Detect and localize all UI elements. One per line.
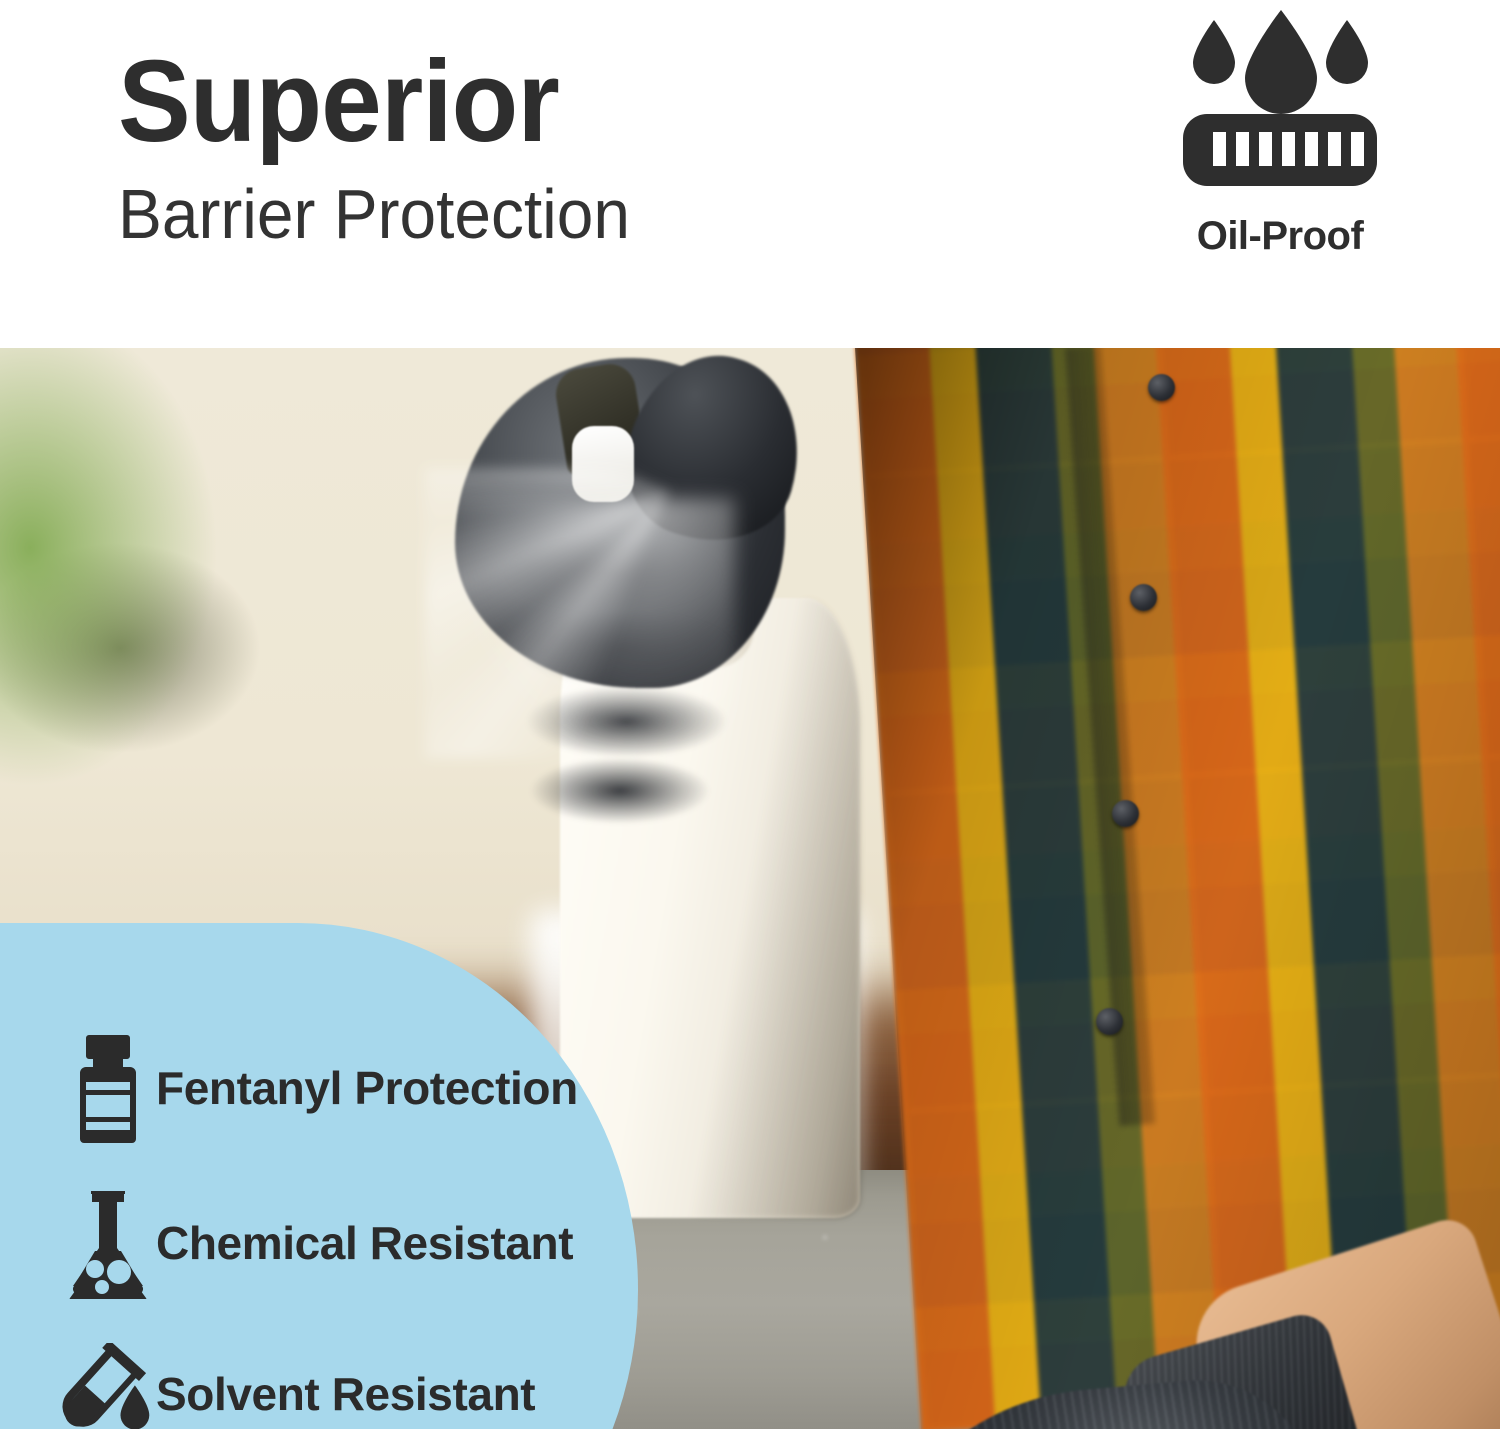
shirt-button [1096, 1008, 1123, 1035]
feature-label: Chemical Resistant [156, 1217, 573, 1270]
headline-block: Superior Barrier Protection [118, 42, 918, 255]
vial-icon [60, 1033, 156, 1145]
header-band: Superior Barrier Protection [0, 0, 1500, 348]
test-tube-droplet-icon [60, 1343, 156, 1429]
feature-item-solvent-resistant: Solvent Resistant [60, 1343, 580, 1429]
badge-label: Oil-Proof [1115, 214, 1445, 259]
page-title: Superior [118, 42, 870, 160]
product-feature-infographic: Superior Barrier Protection [0, 0, 1500, 1429]
flask-icon [60, 1189, 156, 1299]
feature-label: Fentanyl Protection [156, 1062, 578, 1115]
feature-item-chemical-resistant: Chemical Resistant [60, 1189, 580, 1299]
feature-item-fentanyl-protection: Fentanyl Protection [60, 1033, 580, 1145]
shirt-button [1148, 374, 1175, 401]
shirt-button [1112, 800, 1139, 827]
product-photo: Fentanyl Protection Chemical Resi [0, 348, 1500, 1429]
shirt-button [1130, 584, 1157, 611]
feature-list: Fentanyl Protection Chemical Resi [60, 1033, 580, 1429]
oil-proof-badge: Oil-Proof [1115, 8, 1445, 259]
mist-spray-glow [455, 498, 735, 748]
oil-droplets-barrier-icon [1171, 8, 1389, 196]
feature-label: Solvent Resistant [156, 1368, 535, 1421]
page-subtitle: Barrier Protection [118, 174, 870, 255]
